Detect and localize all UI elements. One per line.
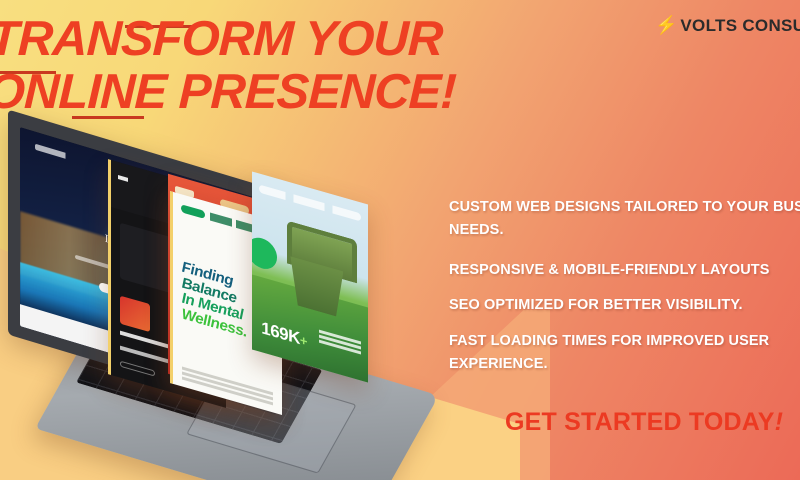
nature-badge-icon	[252, 234, 277, 273]
cta-exclamation: !	[775, 408, 784, 436]
nature-chair-image	[287, 221, 347, 320]
wellness-tag	[181, 204, 205, 219]
music-subtitle-line	[120, 345, 168, 363]
list-item: CUSTOM WEB DESIGNS TAILORED TO YOUR BUSI…	[449, 196, 800, 243]
headline-line-1: TRANSFORM YOUR	[0, 16, 458, 63]
brand-logo[interactable]: ⚡ VOLTS CONSULT	[655, 16, 800, 36]
nature-site-mockup: 169K+	[252, 171, 368, 382]
cta-text[interactable]: GET STARTED TODAY!	[505, 408, 783, 437]
music-play-button	[120, 360, 155, 376]
list-item: SEO OPTIMIZED FOR BETTER VISIBILITY.	[449, 294, 800, 317]
cta-label: GET STARTED TODAY	[505, 408, 775, 436]
lightning-bolt-icon: ⚡	[655, 16, 677, 34]
benefits-list: CUSTOM WEB DESIGNS TAILORED TO YOUR BUSI…	[449, 196, 800, 389]
poster-canvas: ⚡ VOLTS CONSULT TRANSFORM YOUR ONLINE PR…	[0, 0, 800, 480]
list-item: FAST LOADING TIMES FOR IMPROVED USER EXP…	[449, 330, 800, 377]
music-thumbnail	[120, 296, 150, 332]
list-item: RESPONSIVE & MOBILE-FRIENDLY LAYOUTS	[449, 259, 800, 282]
brand-name: VOLTS CONSULT	[680, 16, 800, 36]
page-title: TRANSFORM YOUR ONLINE PRESENCE!	[0, 16, 458, 116]
headline-line-2: ONLINE PRESENCE!	[0, 69, 457, 116]
wellness-brand-mark	[210, 212, 258, 234]
nature-stat-plus: +	[300, 332, 307, 349]
